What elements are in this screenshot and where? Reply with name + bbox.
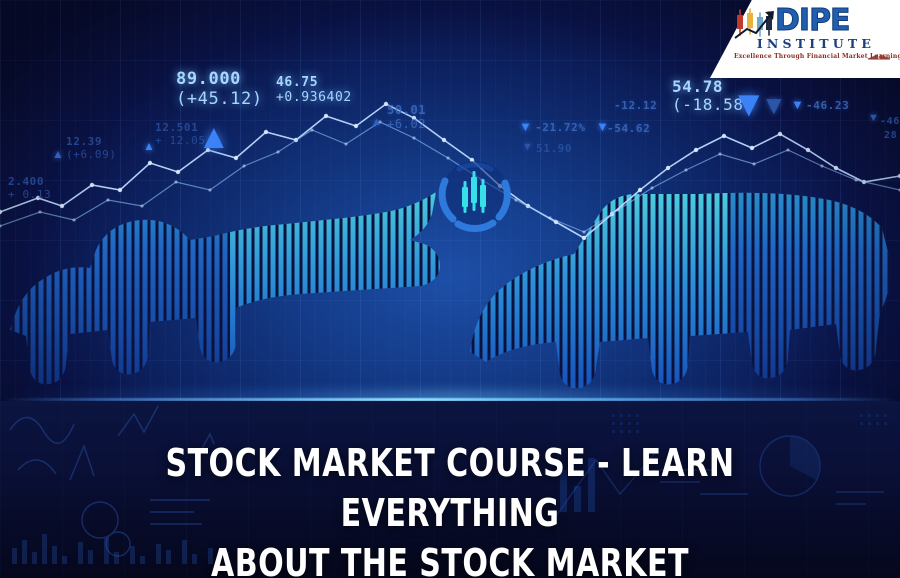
ticker-label-t-1212: -12.12 xyxy=(614,100,657,113)
ticker-change: +0.936402 xyxy=(276,91,352,106)
ticker-value: 46.75 xyxy=(276,76,352,91)
ticker-label-t-28: 28 xyxy=(884,130,897,142)
ticker-change: +6.02 xyxy=(387,118,426,132)
ticker-change: + 0.13 xyxy=(8,189,51,202)
ticker-label-t-2172: -21.72% xyxy=(535,122,586,135)
down-arrow-pct-icon: ▼ xyxy=(519,120,532,133)
ticker-label-t-5001: 50.01+6.02 xyxy=(387,104,426,132)
up-arrow-mid-icon: ▲ xyxy=(371,117,382,128)
ticker-value: -46.23 xyxy=(806,100,849,113)
title-line-2: ABOUT THE STOCK MARKET xyxy=(54,538,846,578)
up-arrow-large-icon: ▲ xyxy=(197,120,231,154)
ticker-value: 2.400 xyxy=(8,176,51,189)
title-line-1: STOCK MARKET COURSE - LEARN EVERYTHING xyxy=(54,438,846,538)
down-arrow-shadow-icon: ▼ xyxy=(761,92,787,118)
ticker-label-t-4623: -46.23 xyxy=(806,100,849,113)
ticker-value: 50.01 xyxy=(387,104,426,118)
ticker-value: 28 xyxy=(884,130,897,142)
logo-book-icon xyxy=(866,47,892,61)
ticker-value: -21.72% xyxy=(535,122,586,135)
up-arrow-small-icon: ▲ xyxy=(143,140,155,152)
ticker-value: -46.82 xyxy=(880,116,900,128)
ticker-label-t-4675: 46.75+0.936402 xyxy=(276,76,352,106)
dipe-institute-logo[interactable]: DIPE INSTITUTE Excellence Through Financ… xyxy=(730,3,894,73)
ticker-label-t-5190: 51.90 xyxy=(536,143,572,156)
stock-market-course-banner: 89.000(+45.12)46.75+0.93640250.01+6.0254… xyxy=(0,0,900,578)
ticker-change: (+45.12) xyxy=(176,90,263,110)
up-arrow-tiny-icon: ▲ xyxy=(52,148,64,160)
ticker-value: -54.62 xyxy=(607,123,650,136)
ticker-label-t-89000: 89.000(+45.12) xyxy=(176,70,263,109)
ticker-value: 51.90 xyxy=(536,143,572,156)
logo-wordmark: DIPE xyxy=(775,3,850,38)
down-arrow-faint-icon: ▼ xyxy=(522,142,533,153)
ticker-label-t-013: 2.400+ 0.13 xyxy=(8,176,51,201)
ticker-value: 12.39 xyxy=(66,136,117,149)
ticker-label-t-4682: -46.82 xyxy=(880,116,900,128)
down-arrow-small-icon: ▼ xyxy=(596,120,609,133)
banner-title: STOCK MARKET COURSE - LEARN EVERYTHING A… xyxy=(0,438,900,578)
ticker-value: 89.000 xyxy=(176,70,263,90)
ticker-change: (+6.09) xyxy=(66,149,117,162)
ticker-label-t-609: 12.39(+6.09) xyxy=(66,136,117,161)
ticker-label-t-5462: -54.62 xyxy=(607,123,650,136)
down-arrow-right-icon: ▼ xyxy=(791,98,804,111)
down-arrow-far-right-icon: ▼ xyxy=(868,113,879,124)
ticker-value: -12.12 xyxy=(614,100,657,113)
logo-tagline: Excellence Through Financial Market Lear… xyxy=(734,53,870,60)
